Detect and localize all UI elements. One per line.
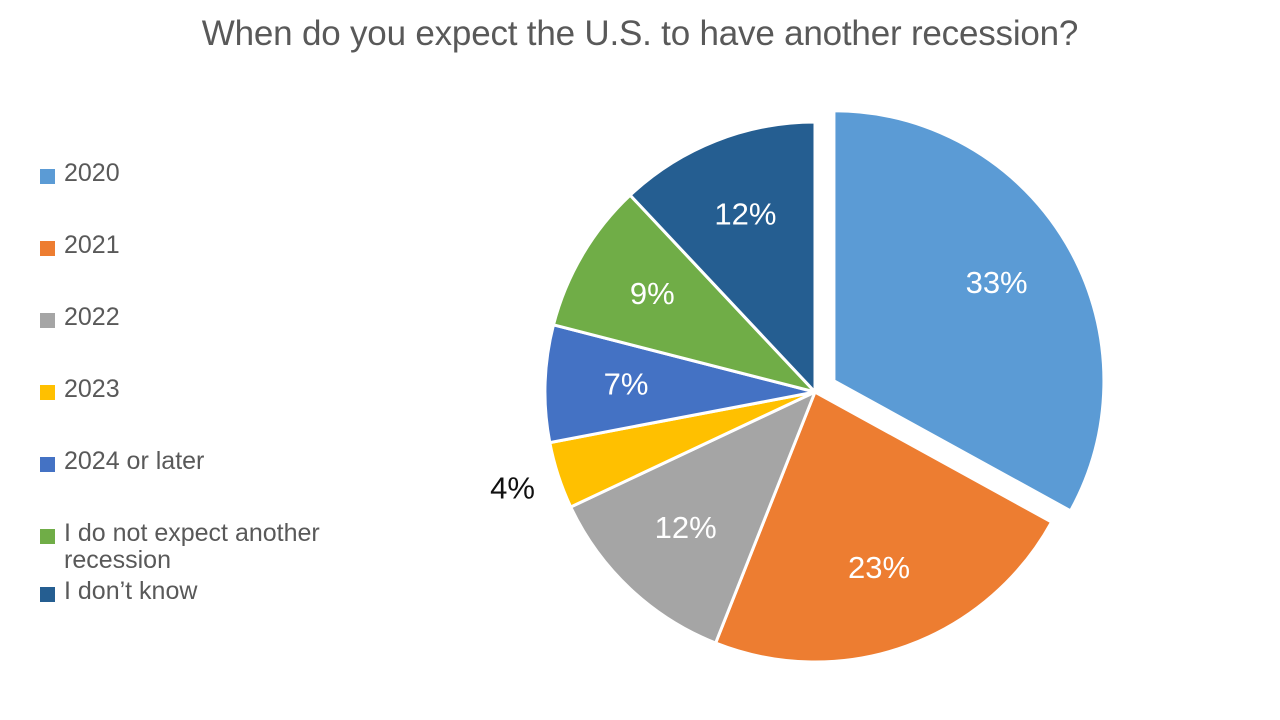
pie-slice-value-label: 7% [604,366,649,401]
pie-chart-canvas: 33%23%12%4%7%9%12% [0,0,1280,720]
pie-slice-value-label: 4% [490,470,535,505]
pie-chart-figure: When do you expect the U.S. to have anot… [0,0,1280,720]
pie-slice-value-label: 12% [714,196,776,231]
pie-slice-value-label: 23% [848,550,910,585]
pie-slice-value-label: 12% [655,510,717,545]
pie-slice-value-label: 9% [630,276,675,311]
pie-slice-value-label: 33% [966,265,1028,300]
